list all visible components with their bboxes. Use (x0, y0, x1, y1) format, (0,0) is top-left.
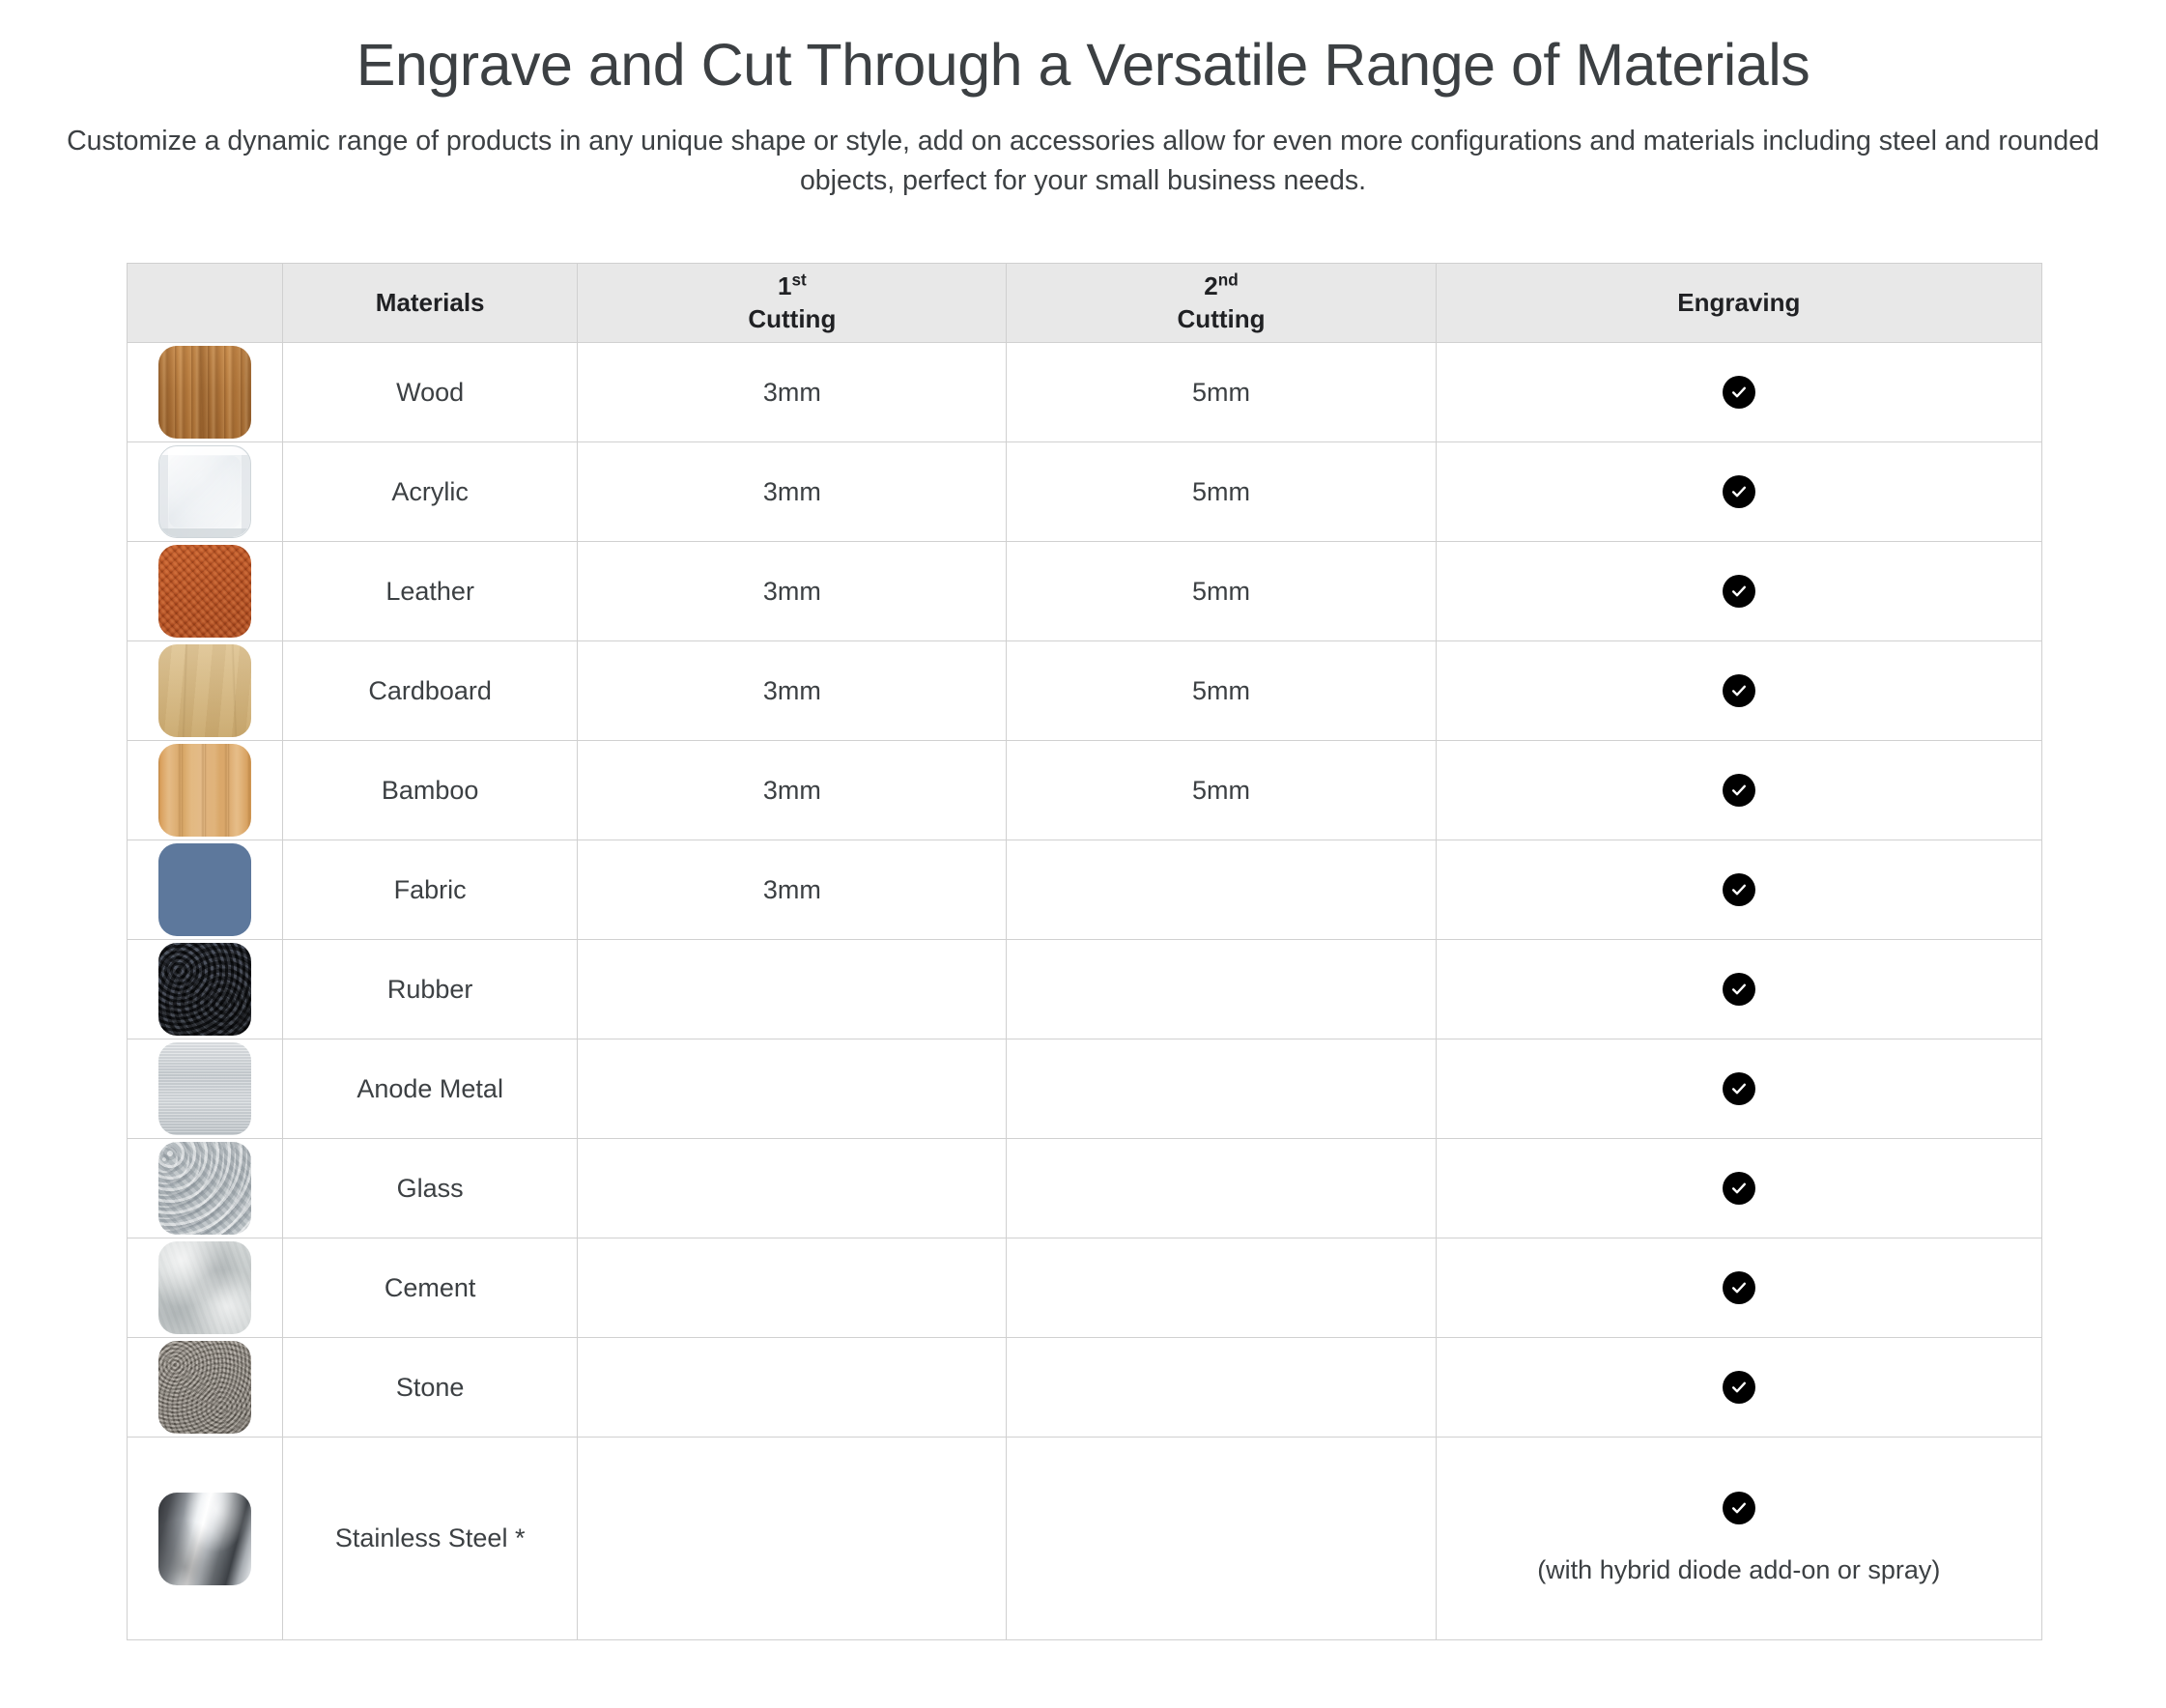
engraving-cell (1436, 1139, 2041, 1238)
first-cutting-cell (578, 1238, 1007, 1338)
check-circle-icon (1723, 1371, 1755, 1404)
first-cutting-cell: 3mm (578, 343, 1007, 442)
second-cutting-cell (1007, 1039, 1436, 1139)
first-cutting-cell (578, 1438, 1007, 1640)
engraving-cell (1436, 741, 2041, 840)
acrylic-swatch (158, 445, 251, 538)
engraving-note: (with hybrid diode add-on or spray) (1537, 1555, 1940, 1585)
wood-swatch (158, 346, 251, 439)
material-name-cell: Cement (283, 1238, 578, 1338)
material-name-cell: Wood (283, 343, 578, 442)
second-cutting-ordinal: 2nd (1011, 270, 1431, 302)
column-header-swatch (128, 264, 283, 343)
material-swatch-cell (128, 1438, 283, 1640)
second-cutting-cell (1007, 1139, 1436, 1238)
first-cutting-label: Cutting (582, 303, 1002, 335)
material-swatch-cell (128, 840, 283, 940)
check-circle-icon (1723, 1072, 1755, 1105)
glass-swatch (158, 1142, 251, 1235)
material-name-cell: Anode Metal (283, 1039, 578, 1139)
material-swatch-cell (128, 343, 283, 442)
check-circle-icon (1723, 973, 1755, 1006)
first-cutting-suffix: st (791, 270, 806, 290)
material-swatch-cell (128, 542, 283, 641)
stainless-steel-swatch (158, 1493, 251, 1585)
material-name-cell: Cardboard (283, 641, 578, 741)
material-swatch-cell (128, 940, 283, 1039)
first-cutting-cell: 3mm (578, 641, 1007, 741)
table-row: Stone (128, 1338, 2042, 1438)
check-circle-icon (1723, 674, 1755, 707)
material-swatch-cell (128, 741, 283, 840)
table-header-row: Materials 1st Cutting 2nd Cutting Engrav… (128, 264, 2042, 343)
page-subtitle: Customize a dynamic range of products in… (25, 122, 2141, 200)
materials-capability-page: Engrave and Cut Through a Versatile Rang… (0, 0, 2166, 1708)
table-row: Fabric3mm (128, 840, 2042, 940)
table-row: Cardboard3mm5mm (128, 641, 2042, 741)
second-cutting-cell (1007, 940, 1436, 1039)
column-header-first-cutting: 1st Cutting (578, 264, 1007, 343)
second-cutting-cell: 5mm (1007, 442, 1436, 542)
table-header: Materials 1st Cutting 2nd Cutting Engrav… (128, 264, 2042, 343)
engraving-cell: (with hybrid diode add-on or spray) (1436, 1438, 2041, 1640)
table-row: Wood3mm5mm (128, 343, 2042, 442)
material-swatch-cell (128, 442, 283, 542)
table-row: Glass (128, 1139, 2042, 1238)
check-circle-icon (1723, 774, 1755, 807)
bamboo-swatch (158, 744, 251, 837)
material-name-cell: Glass (283, 1139, 578, 1238)
engraving-cell (1436, 1039, 2041, 1139)
second-cutting-cell (1007, 1438, 1436, 1640)
table-row: Rubber (128, 940, 2042, 1039)
table-row: Leather3mm5mm (128, 542, 2042, 641)
second-cutting-cell: 5mm (1007, 542, 1436, 641)
column-header-materials: Materials (283, 264, 578, 343)
second-cutting-cell: 5mm (1007, 343, 1436, 442)
check-circle-icon (1723, 376, 1755, 409)
first-cutting-cell (578, 1139, 1007, 1238)
check-circle-icon (1723, 873, 1755, 906)
material-name-cell: Fabric (283, 840, 578, 940)
engraving-cell (1436, 641, 2041, 741)
table-row: Bamboo3mm5mm (128, 741, 2042, 840)
engraving-cell (1436, 840, 2041, 940)
engraving-cell (1436, 442, 2041, 542)
material-name-cell: Acrylic (283, 442, 578, 542)
second-cutting-label: Cutting (1011, 303, 1431, 335)
fabric-swatch (158, 843, 251, 936)
material-swatch-cell (128, 1238, 283, 1338)
engraving-cell (1436, 343, 2041, 442)
material-name-cell: Bamboo (283, 741, 578, 840)
first-cutting-cell (578, 1338, 1007, 1438)
first-cutting-cell: 3mm (578, 542, 1007, 641)
column-header-engraving: Engraving (1436, 264, 2041, 343)
material-name-cell: Stainless Steel * (283, 1438, 578, 1640)
first-cutting-cell: 3mm (578, 442, 1007, 542)
second-cutting-cell: 5mm (1007, 741, 1436, 840)
first-cutting-cell (578, 1039, 1007, 1139)
check-circle-icon (1723, 1271, 1755, 1304)
second-cutting-cell (1007, 1338, 1436, 1438)
cement-swatch (158, 1241, 251, 1334)
check-circle-icon (1723, 575, 1755, 608)
material-swatch-cell (128, 1039, 283, 1139)
material-swatch-cell (128, 641, 283, 741)
check-circle-icon (1723, 1492, 1755, 1524)
material-swatch-cell (128, 1338, 283, 1438)
table-row: Anode Metal (128, 1039, 2042, 1139)
material-name-cell: Stone (283, 1338, 578, 1438)
table-row: Acrylic3mm5mm (128, 442, 2042, 542)
check-circle-icon (1723, 1172, 1755, 1205)
materials-table-wrapper: Materials 1st Cutting 2nd Cutting Engrav… (127, 263, 2042, 1640)
first-cutting-ordinal: 1st (582, 270, 1002, 302)
second-cutting-cell: 5mm (1007, 641, 1436, 741)
material-name-cell: Rubber (283, 940, 578, 1039)
engraving-cell (1436, 542, 2041, 641)
first-cutting-number: 1 (778, 271, 791, 300)
rubber-swatch (158, 943, 251, 1036)
engraving-cell (1436, 1338, 2041, 1438)
table-row: Cement (128, 1238, 2042, 1338)
table-body: Wood3mm5mmAcrylic3mm5mmLeather3mm5mmCard… (128, 343, 2042, 1640)
first-cutting-cell (578, 940, 1007, 1039)
engraving-stack: (with hybrid diode add-on or spray) (1437, 1484, 2041, 1593)
check-circle-icon (1723, 475, 1755, 508)
materials-table: Materials 1st Cutting 2nd Cutting Engrav… (127, 263, 2042, 1640)
second-cutting-suffix: nd (1218, 270, 1239, 290)
second-cutting-cell (1007, 1238, 1436, 1338)
column-header-second-cutting: 2nd Cutting (1007, 264, 1436, 343)
anode-metal-swatch (158, 1042, 251, 1135)
material-name-cell: Leather (283, 542, 578, 641)
second-cutting-cell (1007, 840, 1436, 940)
first-cutting-cell: 3mm (578, 741, 1007, 840)
cardboard-swatch (158, 644, 251, 737)
engraving-cell (1436, 1238, 2041, 1338)
material-swatch-cell (128, 1139, 283, 1238)
table-row: Stainless Steel *(with hybrid diode add-… (128, 1438, 2042, 1640)
second-cutting-number: 2 (1204, 271, 1217, 300)
stone-swatch (158, 1341, 251, 1434)
page-header: Engrave and Cut Through a Versatile Rang… (0, 0, 2166, 200)
page-title: Engrave and Cut Through a Versatile Rang… (0, 31, 2166, 99)
leather-swatch (158, 545, 251, 638)
first-cutting-cell: 3mm (578, 840, 1007, 940)
engraving-cell (1436, 940, 2041, 1039)
